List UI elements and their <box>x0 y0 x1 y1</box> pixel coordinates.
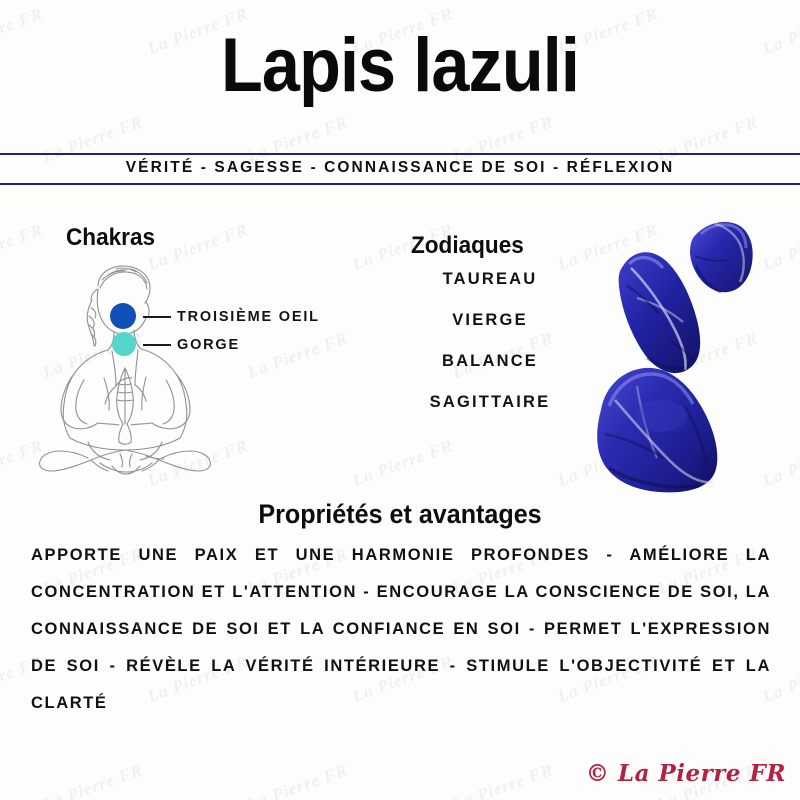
page-title: Lapis lazuli <box>40 26 760 106</box>
properties-text: APPORTE UNE PAIX ET UNE HARMONIE PROFOND… <box>31 537 771 722</box>
meditating-figure-illustration <box>28 258 238 488</box>
leader-line-throat <box>143 344 171 346</box>
chakra-dot-throat <box>112 332 136 356</box>
leader-line-third-eye <box>143 316 171 318</box>
chakra-label-third-eye: TROISIÈME OEIL <box>177 309 320 325</box>
zodiac-sign: BALANCE <box>390 352 590 371</box>
properties-heading: Propriétés et avantages <box>28 499 772 530</box>
watermark-text: La Pierre FR <box>450 760 556 800</box>
watermark-text: La Pierre FR <box>245 328 351 383</box>
infographic-page: La Pierre FRLa Pierre FRLa Pierre FRLa P… <box>0 0 800 800</box>
zodiac-list: TAUREAUVIERGEBALANCESAGITTAIRE <box>390 270 590 412</box>
copyright-signature: © La Pierre FR <box>586 760 786 787</box>
watermark-text: La Pierre FR <box>760 4 800 59</box>
divider-line-bottom <box>0 183 800 185</box>
chakras-heading: Chakras <box>66 224 155 252</box>
zodiac-sign: SAGITTAIRE <box>390 393 590 412</box>
zodiac-sign: VIERGE <box>390 311 590 330</box>
zodiac-heading: Zodiaques <box>411 232 524 260</box>
zodiac-sign: TAUREAU <box>390 270 590 289</box>
keywords-banner: VÉRITÉ - SAGESSE - CONNAISSANCE DE SOI -… <box>0 159 800 177</box>
divider-line-top <box>0 153 800 155</box>
chakra-dot-third-eye <box>110 303 136 329</box>
lapis-lazuli-stones-image <box>575 210 800 500</box>
watermark-text: La Pierre FR <box>245 760 351 800</box>
watermark-text: La Pierre FR <box>350 436 456 491</box>
watermark-text: La Pierre FR <box>40 760 146 800</box>
chakra-label-throat: GORGE <box>177 337 240 353</box>
